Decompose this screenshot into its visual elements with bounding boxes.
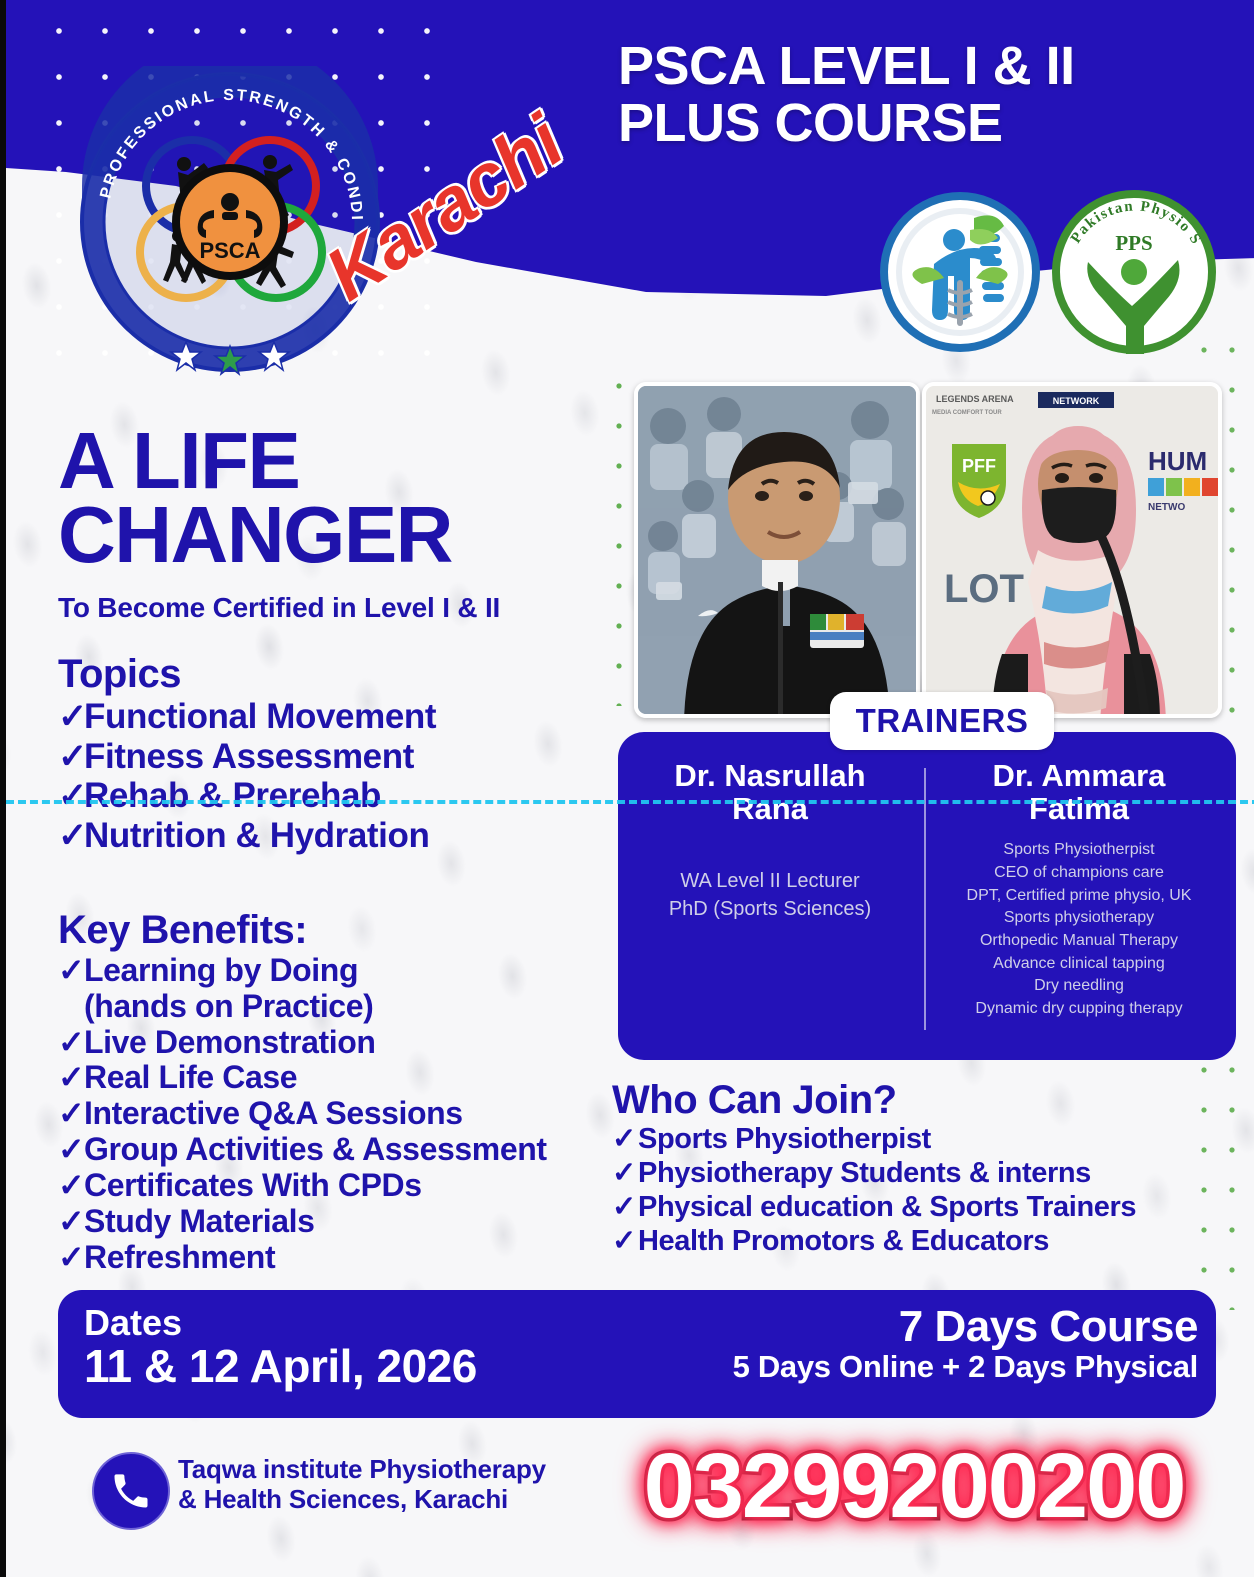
trainers-badge: TRAINERS [830,692,1054,750]
trainers-panel: Dr. Nasrullah Rana WA Level II Lecturer … [618,732,1236,1060]
list-item: ✓Physical education & Sports Trainers [612,1191,1252,1225]
check-icon: ✓ [612,1123,638,1157]
svg-text:PSCA: PSCA [199,238,260,263]
list-item: (hands on Practice) [58,989,618,1025]
check-icon: ✓ [612,1225,638,1259]
list-item: ✓Real Life Case [58,1060,618,1096]
check-icon: ✓ [58,1204,84,1240]
check-icon: ✓ [58,1168,84,1204]
svg-text:MEDIA COMFORT TOUR: MEDIA COMFORT TOUR [932,410,1002,416]
partner-logos: Pakistan Physio Society PPS [878,188,1226,356]
list-item: ✓Rehab & Prerehab [58,776,618,816]
list-item: ✓Study Materials [58,1204,618,1240]
list-item: ✓Health Promotors & Educators [612,1225,1252,1259]
trainers-column-divider [924,768,926,1030]
check-icon: ✓ [58,1025,84,1061]
who-can-join-list: ✓Sports Physiotherpist ✓Physiotherapy St… [612,1123,1252,1259]
duration-block: 7 Days Course 5 Days Online + 2 Days Phy… [733,1304,1198,1384]
list-item: ✓Live Demonstration [58,1025,618,1061]
svg-text:NETWORK: NETWORK [1053,396,1100,406]
trainer-credentials: Sports Physiotherpist CEO of champions c… [930,839,1228,1021]
benefits-list: ✓Learning by Doing (hands on Practice) ✓… [58,953,618,1275]
benefits-section: Key Benefits: ✓Learning by Doing (hands … [58,908,618,1275]
trainer-name: Dr. Nasrullah Rana [626,760,914,825]
duration-title: 7 Days Course [733,1304,1198,1350]
svg-text:HUM: HUM [1148,446,1207,476]
list-item: ✓Physiotherapy Students & interns [612,1157,1252,1191]
check-icon: ✓ [612,1157,638,1191]
course-title-line-1: PSCA LEVEL I & II [618,38,1218,95]
dates-banner: Dates 11 & 12 April, 2026 7 Days Course … [58,1290,1216,1418]
hero-headline: A LIFE CHANGER [58,424,618,571]
list-item: ✓Fitness Assessment [58,737,618,777]
check-icon: ✓ [58,816,84,856]
duration-subtitle: 5 Days Online + 2 Days Physical [733,1350,1198,1384]
check-icon: ✓ [58,1060,84,1096]
dates-block: Dates 11 & 12 April, 2026 [84,1304,477,1390]
phone-icon[interactable] [92,1452,170,1530]
dates-label: Dates [84,1304,477,1342]
topics-heading: Topics [58,652,618,697]
trainer-name: Dr. Ammara Fatima [930,760,1228,825]
list-item: ✓Functional Movement [58,697,618,737]
list-item: ✓Interactive Q&A Sessions [58,1096,618,1132]
who-can-join-section: Who Can Join? ✓Sports Physiotherpist ✓Ph… [612,1078,1252,1259]
trainer-photo-nasrullah [634,382,920,718]
list-item: ✓Certificates With CPDs [58,1168,618,1204]
hero-headline-line-1: A LIFE [58,424,618,498]
trainer-column-nasrullah: Dr. Nasrullah Rana WA Level II Lecturer … [626,760,914,923]
check-icon: ✓ [58,1096,84,1132]
list-item: ✓Nutrition & Hydration [58,816,618,856]
trainer-photo-ammara: LEGENDS ARENA MEDIA COMFORT TOUR NETWORK… [922,382,1222,718]
dates-value: 11 & 12 April, 2026 [84,1342,477,1390]
svg-text:LOT: LOT [944,567,1024,611]
trainer-credentials: WA Level II Lecturer PhD (Sports Science… [626,867,914,923]
list-item: ✓Learning by Doing [58,953,618,989]
check-icon: ✓ [58,1132,84,1168]
physiotherapy-caduceus-logo [880,192,1040,352]
hero-subhead: To Become Certified in Level I & II [58,592,638,624]
psca-logo: PROFESSIONAL STRENGTH & CONDITIONING ASS… [74,66,386,378]
check-icon: ✓ [58,1240,84,1276]
institute-name: Taqwa institute Physiotherapy & Health S… [178,1454,578,1514]
check-icon: ✓ [58,697,84,737]
svg-text:NETWO: NETWO [1148,502,1185,513]
check-icon: ✓ [58,776,84,816]
svg-text:LEGENDS ARENA: LEGENDS ARENA [936,394,1014,404]
poster-canvas: PSCA LEVEL I & II PLUS COURSE PROFESSION… [0,0,1254,1577]
list-item: ✓Refreshment [58,1240,618,1276]
topics-section: Topics ✓Functional Movement ✓Fitness Ass… [58,652,618,855]
benefits-heading: Key Benefits: [58,908,618,953]
phone-number[interactable]: 03299200200 [584,1438,1244,1535]
page-title: PSCA LEVEL I & II PLUS COURSE [618,38,1218,152]
course-title-line-2: PLUS COURSE [618,95,1218,152]
hero-headline-line-2: CHANGER [58,498,618,572]
topics-list: ✓Functional Movement ✓Fitness Assessment… [58,697,618,855]
list-item: ✓Group Activities & Assessment [58,1132,618,1168]
list-item: ✓Sports Physiotherpist [612,1123,1252,1157]
svg-text:PPS: PPS [1115,231,1152,255]
dashed-scan-line [6,800,1254,804]
check-icon: ✓ [58,737,84,777]
check-icon: ✓ [58,953,84,989]
who-can-join-heading: Who Can Join? [612,1078,1252,1123]
check-icon: ✓ [612,1191,638,1225]
svg-text:PFF: PFF [962,456,996,476]
